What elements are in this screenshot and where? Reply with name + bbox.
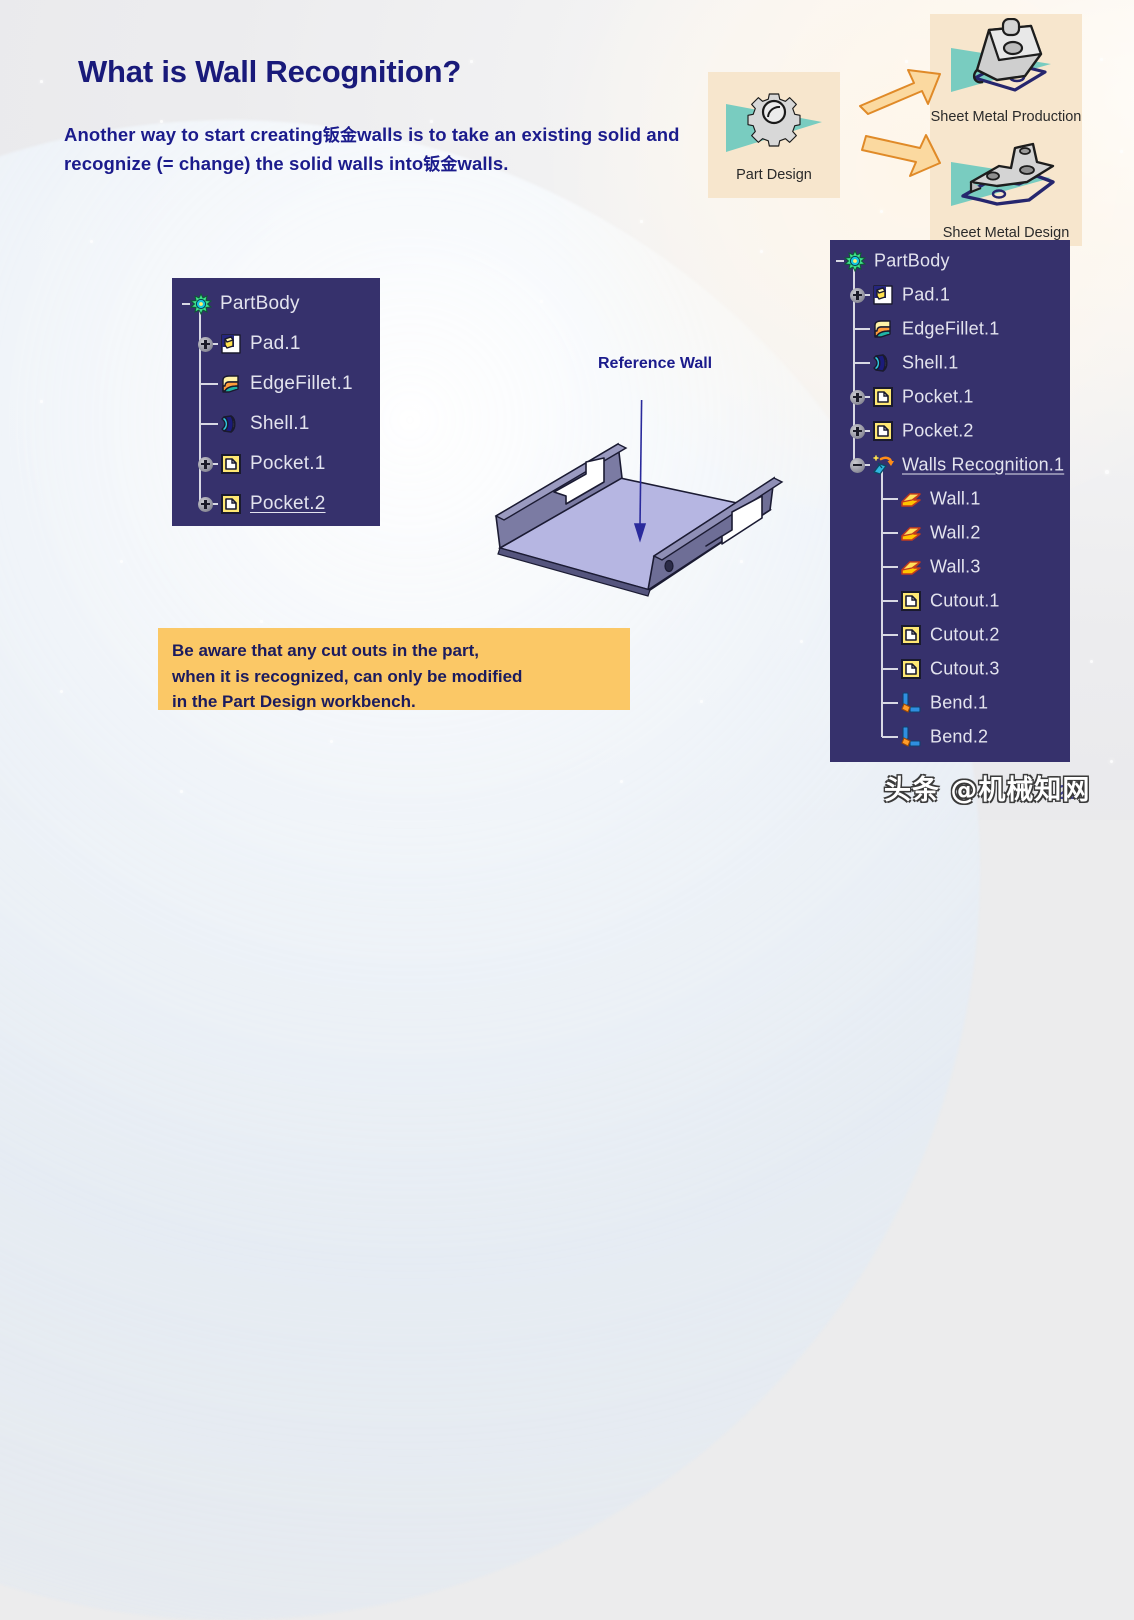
shell-icon xyxy=(220,413,242,435)
workbench-label: Part Design xyxy=(736,167,812,183)
watermark: 头条 @机械知网 xyxy=(884,768,1090,807)
edgefillet-icon xyxy=(220,373,242,395)
note-text: Be aware that any cut outs in the part, … xyxy=(172,638,616,715)
star xyxy=(620,780,623,783)
star xyxy=(700,700,703,703)
star xyxy=(40,400,43,403)
arrow-to-production xyxy=(860,70,940,114)
tree-node-label: Cutout.2 xyxy=(930,625,1000,646)
pocket-icon xyxy=(872,386,894,408)
tree-node-label: Bend.2 xyxy=(930,727,988,748)
wall-icon xyxy=(900,556,922,578)
workbench-card-part-design[interactable]: Part Design xyxy=(708,72,840,198)
wall-icon xyxy=(900,522,922,544)
tree-node-label: EdgeFillet.1 xyxy=(902,319,999,340)
tree-connector-line xyxy=(200,423,218,425)
star xyxy=(330,740,333,743)
arrow-to-design xyxy=(862,135,940,176)
tree-node-label: Shell.1 xyxy=(902,353,958,374)
bend-icon xyxy=(900,726,922,748)
tree-trunk-line xyxy=(199,304,201,504)
star xyxy=(60,690,63,693)
tree-connector-line xyxy=(854,362,870,364)
sheet-metal-design-icon xyxy=(941,134,1071,225)
bend-icon xyxy=(900,692,922,714)
tree-root-stub-line xyxy=(836,260,844,262)
tree-connector-line xyxy=(882,498,898,500)
tree-connector-line xyxy=(882,702,898,704)
subtitle-run: walls. xyxy=(457,153,508,174)
shell-icon xyxy=(872,352,894,374)
pad-icon xyxy=(872,284,894,306)
partbody-icon xyxy=(190,293,212,315)
cutout-icon xyxy=(900,590,922,612)
expand-icon[interactable] xyxy=(198,337,213,352)
tree-node-label: Wall.1 xyxy=(930,489,981,510)
tree-node-label: Bend.1 xyxy=(930,693,988,714)
spec-tree-before[interactable]: PartBody Pad.1 EdgeFillet.1 Shell.1 Pock… xyxy=(172,278,380,526)
walls-recognition-icon xyxy=(872,454,894,476)
star xyxy=(800,640,803,643)
slide-subtitle: Another way to start creating钣金walls is … xyxy=(64,121,694,179)
expand-icon[interactable] xyxy=(198,457,213,472)
pocket-icon xyxy=(872,420,894,442)
star xyxy=(880,210,883,213)
tree-connector-line xyxy=(882,566,898,568)
star xyxy=(120,560,123,563)
tree-node-label: Walls Recognition.1 xyxy=(902,455,1064,476)
tree-node-label: PartBody xyxy=(874,251,950,272)
expand-icon[interactable] xyxy=(850,390,865,405)
tree-connector-line xyxy=(200,383,218,385)
partbody-icon xyxy=(844,250,866,272)
star xyxy=(260,620,263,623)
pocket-icon xyxy=(220,453,242,475)
cutout-icon xyxy=(900,624,922,646)
tree-node-label: Pad.1 xyxy=(902,285,950,306)
spec-tree-after[interactable]: PartBody Pad.1 EdgeFillet.1 Shell.1 Pock… xyxy=(830,240,1070,762)
star xyxy=(470,60,473,63)
star xyxy=(90,240,93,243)
tree-node-label: EdgeFillet.1 xyxy=(250,373,353,395)
star xyxy=(1100,58,1103,61)
star xyxy=(640,220,643,223)
subtitle-cjk-run: 钣金 xyxy=(323,126,357,146)
pocket-icon xyxy=(220,493,242,515)
tree-connector-line xyxy=(882,634,898,636)
subtitle-run: Another way to start creating xyxy=(64,124,323,145)
tree-node-label: Cutout.1 xyxy=(930,591,1000,612)
star xyxy=(1120,150,1123,153)
tree-node-label: Wall.2 xyxy=(930,523,981,544)
pad-icon xyxy=(220,333,242,355)
star xyxy=(180,790,183,793)
tree-node-label: Pocket.1 xyxy=(250,453,326,475)
expand-icon[interactable] xyxy=(850,288,865,303)
tree-connector-line xyxy=(882,600,898,602)
workbench-label: Sheet Metal Design xyxy=(943,225,1070,241)
star xyxy=(540,300,543,303)
model-viewport xyxy=(470,400,810,620)
expand-icon[interactable] xyxy=(198,497,213,512)
sheet-metal-production-icon xyxy=(941,18,1071,109)
cutout-icon xyxy=(900,658,922,680)
gear-icon xyxy=(718,80,830,167)
star xyxy=(760,250,763,253)
reference-wall-label: Reference Wall xyxy=(598,355,712,373)
tree-node-label: Wall.3 xyxy=(930,557,981,578)
subtitle-cjk-run: 钣金 xyxy=(423,155,457,175)
tree-node-label: Pocket.2 xyxy=(902,421,974,442)
tree-node-label: PartBody xyxy=(220,293,300,315)
expand-icon[interactable] xyxy=(850,424,865,439)
tree-node-label: Shell.1 xyxy=(250,413,310,435)
flow-arrows xyxy=(856,58,960,194)
tree-node-label: Cutout.3 xyxy=(930,659,1000,680)
star xyxy=(40,80,43,83)
tree-connector-line xyxy=(882,736,898,738)
tree-node-label: Pocket.2 xyxy=(250,493,326,515)
star xyxy=(1110,760,1113,763)
sheet-metal-bracket-3d xyxy=(470,400,810,620)
wall-icon xyxy=(900,488,922,510)
tree-node-label: Pad.1 xyxy=(250,333,301,355)
tree-root-stub-line xyxy=(182,303,190,305)
star xyxy=(1105,470,1109,474)
note-callout-box: Be aware that any cut outs in the part, … xyxy=(158,628,630,710)
tree-connector-line xyxy=(882,532,898,534)
tree-connector-line xyxy=(854,328,870,330)
page-title: What is Wall Recognition? xyxy=(78,54,461,90)
star xyxy=(1090,660,1093,663)
tree-node-label: Pocket.1 xyxy=(902,387,974,408)
tree-connector-line xyxy=(882,668,898,670)
edgefillet-icon xyxy=(872,318,894,340)
collapse-icon[interactable] xyxy=(850,458,865,473)
